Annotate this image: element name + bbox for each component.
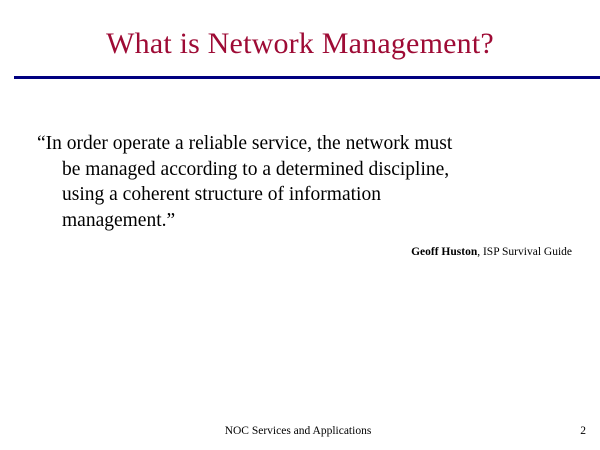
quote-line: using a coherent structure of informatio… [86,182,589,208]
quote-line: management.” [86,208,589,234]
page-title: What is Network Management? [0,26,600,62]
quote-block: “In order operate a reliable service, th… [37,131,589,233]
attribution-source: , ISP Survival Guide [477,246,572,258]
attribution-author: Geoff Huston [411,246,477,258]
quote-attribution: Geoff Huston, ISP Survival Guide [200,245,572,259]
title-divider-rule [14,76,600,79]
slide-canvas: What is Network Management? “In order op… [0,0,600,450]
page-number: 2 [580,424,586,438]
footer-label: NOC Services and Applications [0,424,596,438]
quote-line: “In order operate a reliable service, th… [61,131,589,157]
quote-line: be managed according to a determined dis… [86,157,589,183]
